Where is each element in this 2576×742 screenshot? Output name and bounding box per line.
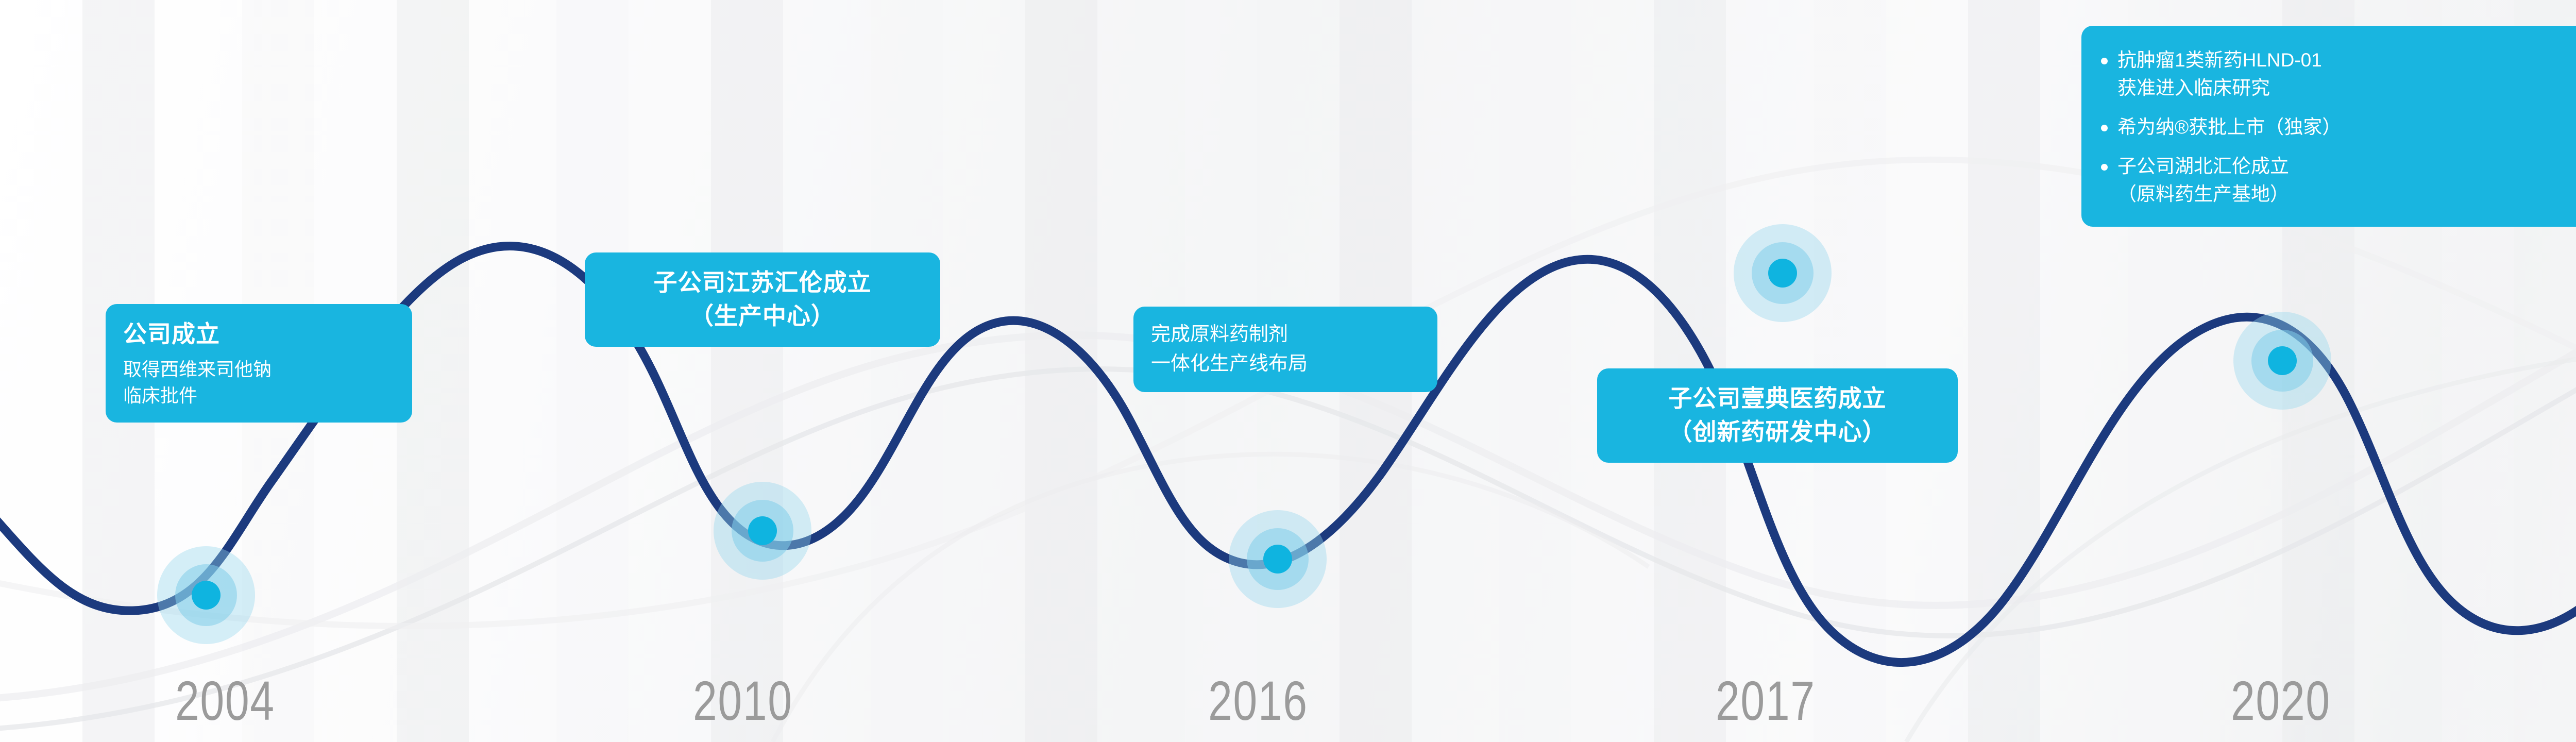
milestone-bullet-list-2020: 抗肿瘤1类新药HLND-01 获准进入临床研究 希为纳®获批上市（独家） 子公司… — [2097, 46, 2576, 208]
milestone-card-2017[interactable]: 子公司壹典医药成立 （创新药研发中心） — [1597, 368, 1958, 463]
milestone-title-2017: 子公司壹典医药成立 （创新药研发中心） — [1615, 382, 1940, 449]
list-item: 子公司湖北汇伦成立 （原料药生产基地） — [2097, 153, 2576, 208]
node-core — [1263, 545, 1292, 574]
year-label-2004: 2004 — [175, 668, 275, 733]
milestone-card-2020[interactable]: 抗肿瘤1类新药HLND-01 获准进入临床研究 希为纳®获批上市（独家） 子公司… — [2081, 26, 2576, 227]
year-label-2017: 2017 — [1716, 668, 1816, 733]
node-core — [1768, 259, 1797, 288]
milestone-subtitle-2004: 取得西维来司他钠 临床批件 — [123, 356, 395, 409]
milestone-text-2016: 完成原料药制剂 一体化生产线布局 — [1151, 320, 1420, 379]
list-item: 抗肿瘤1类新药HLND-01 获准进入临床研究 — [2097, 46, 2576, 102]
year-label-2010: 2010 — [693, 668, 793, 733]
year-label-2020: 2020 — [2231, 668, 2331, 733]
milestone-card-2004[interactable]: 公司成立 取得西维来司他钠 临床批件 — [106, 304, 412, 423]
milestone-title-2010: 子公司江苏汇伦成立 （生产中心） — [602, 266, 923, 333]
milestone-title-2004: 公司成立 — [123, 317, 395, 351]
list-item: 希为纳®获批上市（独家） — [2097, 113, 2576, 141]
node-core — [192, 581, 221, 610]
year-label-2016: 2016 — [1208, 668, 1308, 733]
milestone-card-2010[interactable]: 子公司江苏汇伦成立 （生产中心） — [585, 252, 940, 347]
node-core — [2268, 346, 2297, 375]
node-core — [748, 516, 777, 545]
milestone-card-2016[interactable]: 完成原料药制剂 一体化生产线布局 — [1133, 307, 1437, 392]
